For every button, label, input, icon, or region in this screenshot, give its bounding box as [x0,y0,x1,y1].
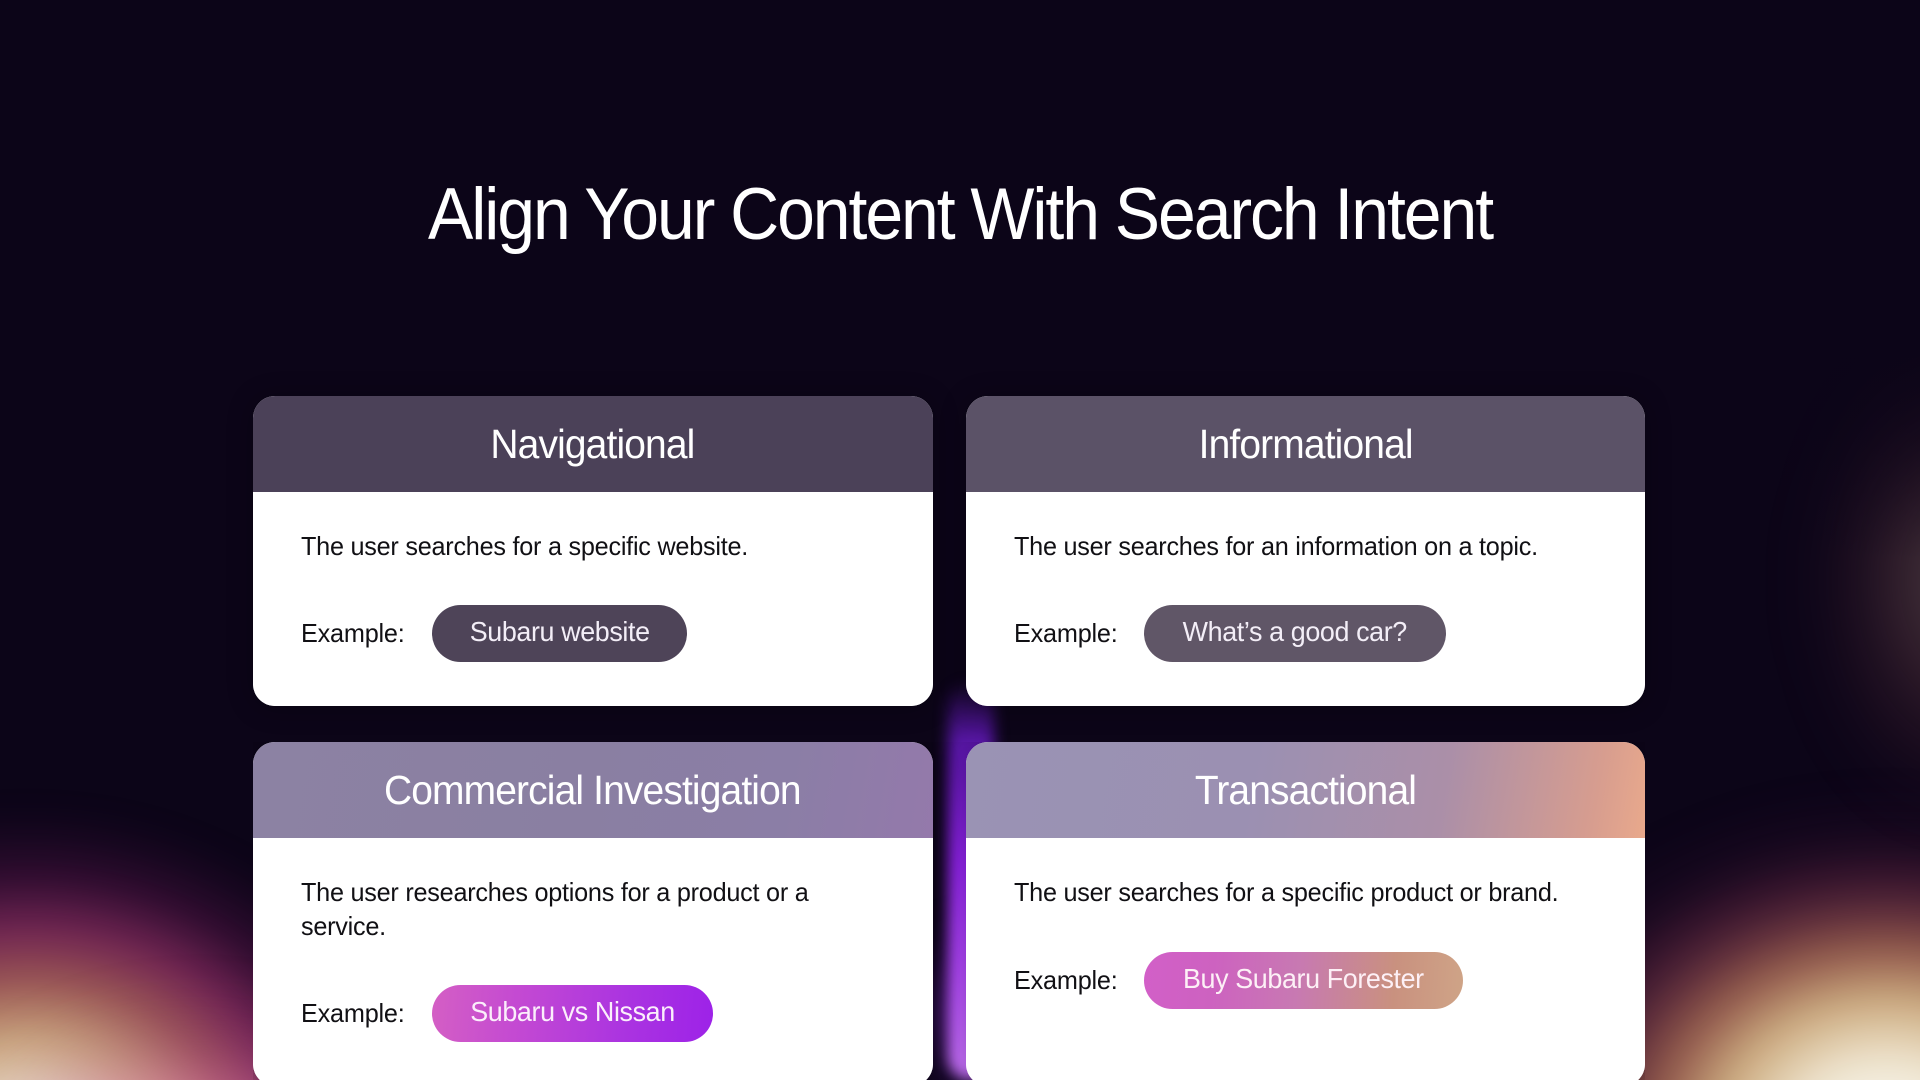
card-informational-title: Informational [1198,421,1412,468]
card-navigational-header: Navigational [253,396,933,492]
card-navigational-example-label: Example: [301,618,405,649]
card-transactional-body: The user searches for a specific product… [966,838,1646,1080]
card-informational-description: The user searches for an information on … [1014,530,1580,563]
card-navigational-body: The user searches for a specific website… [253,492,933,706]
card-row-bottom: Commercial Investigation The user resear… [253,742,1645,1080]
card-commercial-investigation-title: Commercial Investigation [384,767,801,814]
card-navigational-example-value: Subaru website [470,616,650,648]
card-navigational[interactable]: Navigational The user searches for a spe… [253,396,933,706]
card-informational[interactable]: Informational The user searches for an i… [966,396,1646,706]
card-transactional-example-value: Buy Subaru Forester [1183,963,1424,995]
card-navigational-example-row: Example: Subaru website [301,605,885,662]
card-commercial-investigation-description: The user researches options for a produc… [301,876,867,943]
card-commercial-investigation-header: Commercial Investigation [253,742,933,838]
card-transactional-header: Transactional [966,742,1646,838]
card-transactional-title: Transactional [1195,767,1416,814]
card-informational-header: Informational [966,396,1646,492]
card-commercial-investigation-example-value: Subaru vs Nissan [470,996,675,1028]
intent-card-grid: Navigational The user searches for a spe… [253,396,1645,1080]
card-transactional-example-label: Example: [1014,965,1118,996]
card-informational-example-pill[interactable]: What’s a good car? [1144,605,1446,662]
card-commercial-investigation-example-row: Example: Subaru vs Nissan [301,985,885,1042]
card-navigational-description: The user searches for a specific website… [301,530,867,563]
card-navigational-example-pill[interactable]: Subaru website [432,605,687,662]
card-commercial-investigation-body: The user researches options for a produc… [253,838,933,1080]
card-transactional[interactable]: Transactional The user searches for a sp… [966,742,1646,1080]
card-commercial-investigation-example-label: Example: [301,998,405,1029]
card-transactional-description: The user searches for a specific product… [1014,876,1580,909]
card-informational-example-label: Example: [1014,618,1118,649]
card-informational-example-row: Example: What’s a good car? [1014,605,1598,662]
card-commercial-investigation[interactable]: Commercial Investigation The user resear… [253,742,933,1080]
card-informational-body: The user searches for an information on … [966,492,1646,706]
card-transactional-example-pill[interactable]: Buy Subaru Forester [1144,952,1463,1009]
card-informational-example-value: What’s a good car? [1183,616,1407,648]
card-row-top: Navigational The user searches for a spe… [253,396,1645,706]
card-navigational-title: Navigational [491,421,695,468]
card-commercial-investigation-example-pill[interactable]: Subaru vs Nissan [432,985,713,1042]
slide-canvas: Align Your Content With Search Intent Na… [0,0,1920,1080]
page-title: Align Your Content With Search Intent [67,178,1853,251]
card-transactional-example-row: Example: Buy Subaru Forester [1014,952,1598,1009]
